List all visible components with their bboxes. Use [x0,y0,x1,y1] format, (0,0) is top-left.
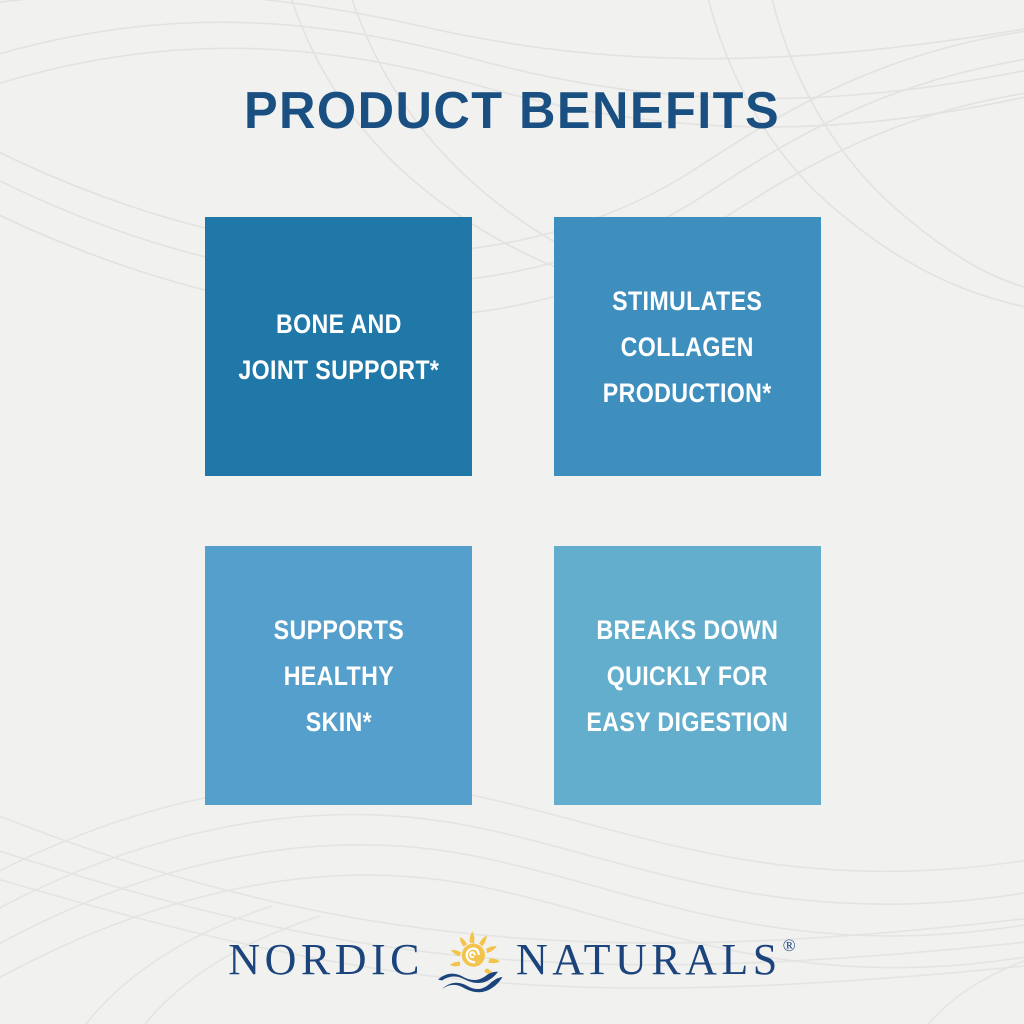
benefit-line: HEALTHY [273,653,403,699]
benefit-line: SKIN* [273,699,403,745]
registered-trademark-symbol: ® [783,937,796,954]
benefit-card-supports-healthy-skin[interactable]: SUPPORTS HEALTHY SKIN* [205,546,472,805]
benefit-line: QUICKLY FOR [587,653,789,699]
benefit-card-breaks-down-quickly-for-easy-digestion[interactable]: BREAKS DOWN QUICKLY FOR EASY DIGESTION [554,546,821,805]
brand-logo: NORDIC NATURALS ® [0,925,1024,995]
logo-word-nordic: NORDIC [228,936,424,984]
benefit-line: BREAKS DOWN [587,607,789,653]
benefits-grid: BONE AND JOINT SUPPORT* STIMULATES COLLA… [205,217,821,805]
benefit-card-text: STIMULATES COLLAGEN PRODUCTION* [603,278,772,416]
benefit-line: STIMULATES [603,278,772,324]
benefit-card-stimulates-collagen-production[interactable]: STIMULATES COLLAGEN PRODUCTION* [554,217,821,476]
page-title: PRODUCT BENEFITS [15,82,1008,140]
benefit-line: PRODUCTION* [603,370,772,416]
benefit-line: COLLAGEN [603,324,772,370]
benefit-line: EASY DIGESTION [587,699,789,745]
product-benefits-infographic: PRODUCT BENEFITS BONE AND JOINT SUPPORT*… [0,0,1024,1024]
benefit-line: SUPPORTS [273,607,403,653]
sun-and-waves-icon [436,931,510,993]
benefit-card-text: SUPPORTS HEALTHY SKIN* [273,607,403,745]
benefit-card-text: BREAKS DOWN QUICKLY FOR EASY DIGESTION [587,607,789,745]
benefit-card-bone-and-joint-support[interactable]: BONE AND JOINT SUPPORT* [205,217,472,476]
logo-word-naturals: NATURALS [516,936,782,984]
benefit-line: BONE AND [238,301,439,347]
benefit-card-text: BONE AND JOINT SUPPORT* [238,301,439,393]
benefit-line: JOINT SUPPORT* [238,347,439,393]
